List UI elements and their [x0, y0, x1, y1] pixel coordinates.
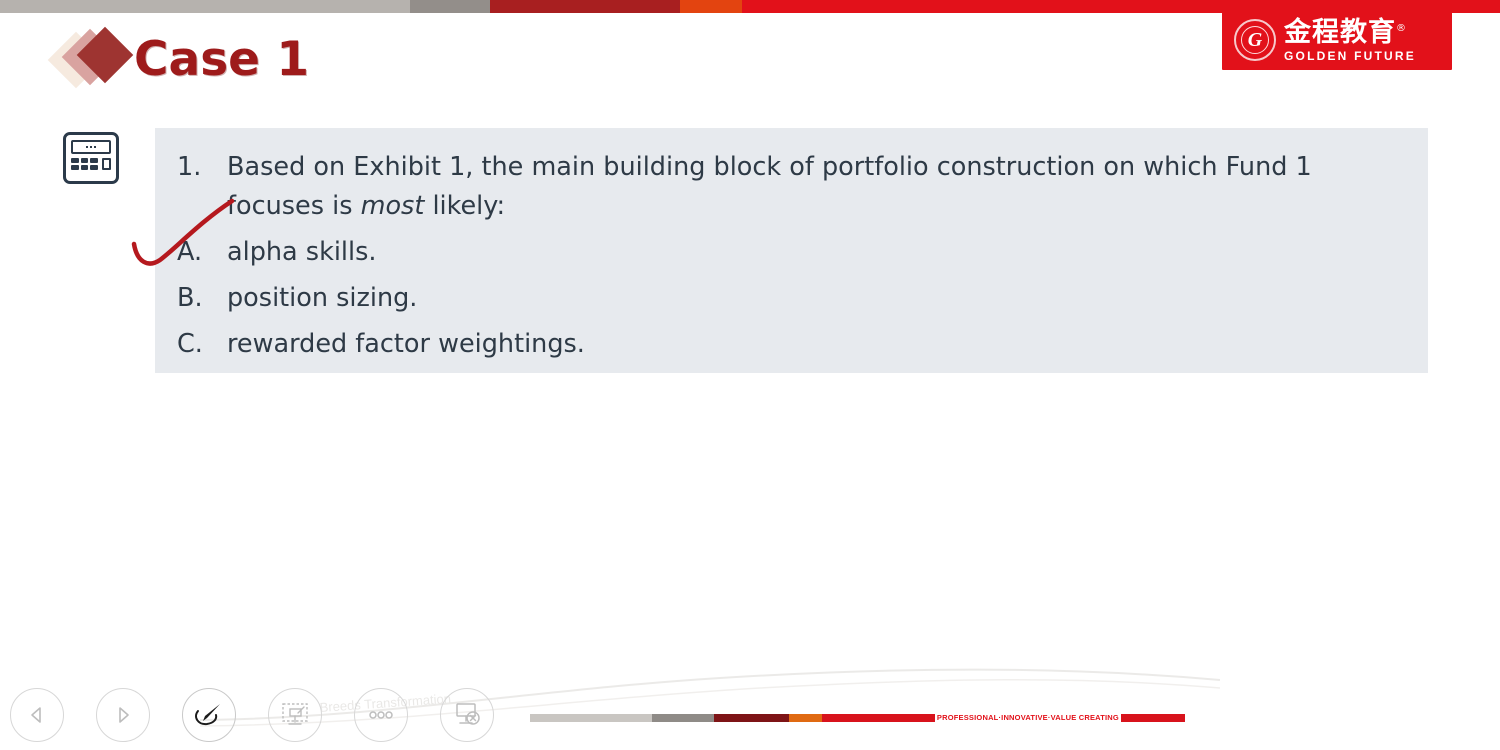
option-b-marker: B.	[177, 279, 227, 318]
logo-chinese-text: 金程教育	[1284, 17, 1396, 48]
option-c[interactable]: C. rewarded factor weightings.	[177, 325, 1406, 364]
question-panel: 1. Based on Exhibit 1, the main building…	[155, 128, 1428, 373]
topbar-segment-light-gray	[0, 0, 410, 13]
stem-emphasis: most	[361, 191, 425, 221]
slide-title-row: Case 1	[52, 28, 309, 90]
option-c-text: rewarded factor weightings.	[227, 325, 1406, 364]
seal-monogram: G	[1236, 21, 1274, 59]
next-slide-button[interactable]	[96, 688, 150, 742]
question-stem-text: Based on Exhibit 1, the main building bl…	[227, 148, 1387, 226]
calculator-keys	[71, 158, 111, 170]
seal-icon: G	[1234, 19, 1276, 61]
option-b-text: position sizing.	[227, 279, 1406, 318]
logo-english-name: GOLDEN FUTURE	[1284, 50, 1416, 62]
footer-tagline: PROFESSIONAL·INNOVATIVE·VALUE CREATING	[935, 714, 1121, 722]
projector-x-icon	[453, 702, 481, 728]
triangle-right-icon	[113, 705, 133, 725]
ellipsis-icon	[368, 710, 394, 720]
option-a[interactable]: A. alpha skills.	[177, 233, 1406, 272]
option-a-marker: A.	[177, 233, 227, 272]
calculator-icon	[63, 132, 119, 184]
question-number: 1.	[177, 148, 227, 187]
triangle-left-icon	[27, 705, 47, 725]
option-c-marker: C.	[177, 325, 227, 364]
registered-mark: ®	[1396, 23, 1407, 34]
slide-grid-button[interactable]	[268, 688, 322, 742]
footer-color-bar: PROFESSIONAL·INNOVATIVE·VALUE CREATING	[530, 714, 1185, 722]
slide-grid-icon	[281, 702, 309, 728]
footer-segment-light-gray	[530, 714, 652, 722]
question-stem: 1. Based on Exhibit 1, the main building…	[177, 148, 1406, 226]
slide-canvas: G 金程教育® GOLDEN FUTURE Case 1 1. Based on…	[0, 0, 1500, 750]
end-show-button[interactable]	[440, 688, 494, 742]
footer-segment-dark-red	[714, 714, 789, 722]
option-b[interactable]: B. position sizing.	[177, 279, 1406, 318]
footer-segment-orange	[789, 714, 822, 722]
page-title: Case 1	[134, 32, 309, 87]
option-a-text: alpha skills.	[227, 233, 1406, 272]
presentation-toolbar	[10, 688, 494, 742]
more-options-button[interactable]	[354, 688, 408, 742]
pen-tool-button[interactable]	[182, 688, 236, 742]
logo-wordmark: 金程教育® GOLDEN FUTURE	[1284, 19, 1416, 62]
topbar-segment-mid-gray	[410, 0, 490, 13]
topbar-segment-dark-red	[490, 0, 680, 13]
previous-slide-button[interactable]	[10, 688, 64, 742]
logo-chinese-name: 金程教育®	[1284, 19, 1416, 46]
stem-part-2: likely:	[424, 191, 505, 221]
pen-icon	[194, 702, 224, 728]
calculator-screen	[71, 140, 111, 154]
footer-segment-bright-red	[822, 714, 935, 722]
topbar-segment-orange	[680, 0, 742, 13]
footer-segment-bright-red-end	[1121, 714, 1185, 722]
diamond-decoration-icon	[52, 28, 140, 90]
footer-segment-mid-gray	[652, 714, 713, 722]
brand-logo: G 金程教育® GOLDEN FUTURE	[1222, 10, 1452, 70]
